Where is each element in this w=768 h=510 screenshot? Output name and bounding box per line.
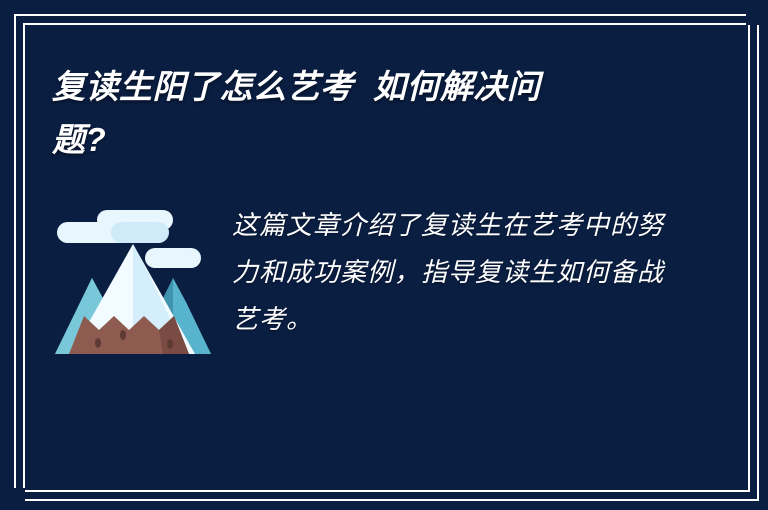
frame-corner-mask-bottom-left: [0, 488, 25, 510]
body-text: 这篇文章介绍了复读生在艺考中的努力和成功案例，指导复读生如何备战艺考。: [232, 202, 672, 343]
snow-mountain-icon: [55, 204, 211, 368]
page-title: 复读生阳了怎么艺考 如何解决问 题?: [52, 60, 692, 166]
frame-corner-mask-top-right: [746, 0, 768, 25]
poster-canvas: 复读生阳了怎么艺考 如何解决问 题?: [0, 0, 768, 510]
content-row: 这篇文章介绍了复读生在艺考中的努力和成功案例，指导复读生如何备战艺考。: [0, 196, 768, 386]
